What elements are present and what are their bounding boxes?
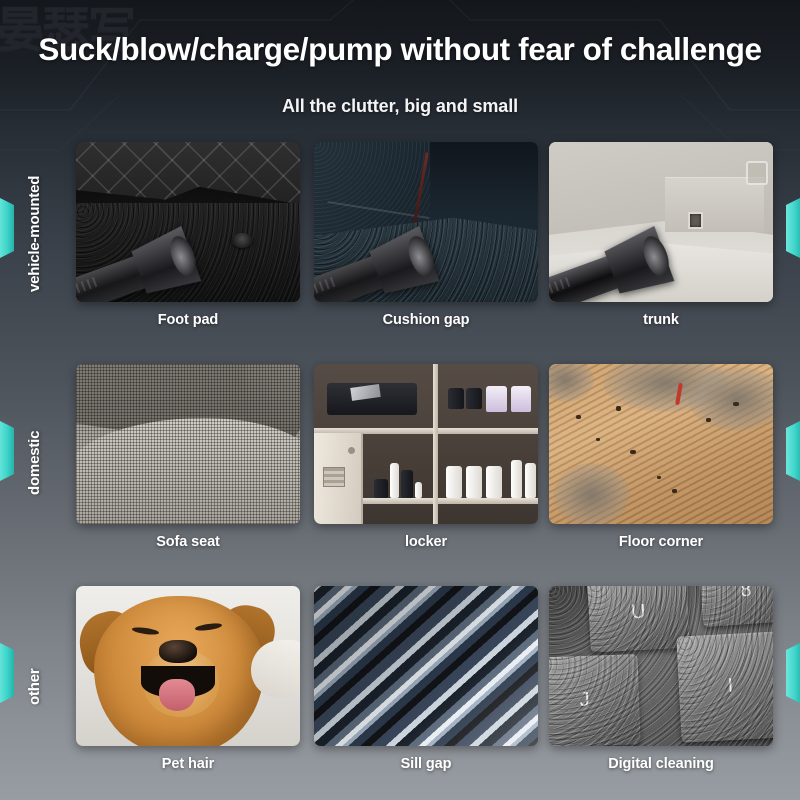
card-locker[interactable] [314, 364, 538, 524]
locker-door [314, 433, 363, 524]
digital-cleaning-image: U 8 J I [549, 586, 773, 746]
card-trunk[interactable] [549, 142, 773, 302]
caption-foot-pad: Foot pad [76, 312, 300, 328]
caption-locker: locker [314, 534, 538, 550]
floor-corner-image [549, 364, 773, 524]
card-pet-hair[interactable] [76, 586, 300, 746]
card-sofa-seat[interactable] [76, 364, 300, 524]
caption-cushion-gap: Cushion gap [314, 312, 538, 328]
trunk-image [549, 142, 773, 302]
sill-gap-image [314, 586, 538, 746]
caption-sill-gap: Sill gap [314, 756, 538, 772]
caption-trunk: trunk [549, 312, 773, 328]
caption-digital-cleaning: Digital cleaning [549, 756, 773, 772]
card-foot-pad[interactable] [76, 142, 300, 302]
caption-pet-hair: Pet hair [76, 756, 300, 772]
locker-image [314, 364, 538, 524]
pet-hair-image [76, 586, 300, 746]
card-floor-corner[interactable] [549, 364, 773, 524]
caption-sofa-seat: Sofa seat [76, 534, 300, 550]
card-sill-gap[interactable] [314, 586, 538, 746]
card-digital-cleaning[interactable]: U 8 J I [549, 586, 773, 746]
card-cushion-gap[interactable] [314, 142, 538, 302]
sofa-seat-image [76, 364, 300, 524]
promo-page: 晏瑟写 Suck/blow/charge/pump without fear o… [0, 0, 800, 800]
foot-pad-image [76, 142, 300, 302]
caption-floor-corner: Floor corner [549, 534, 773, 550]
cushion-gap-image [314, 142, 538, 302]
scenario-card-grid: Foot pad Cushion gap [0, 0, 800, 800]
